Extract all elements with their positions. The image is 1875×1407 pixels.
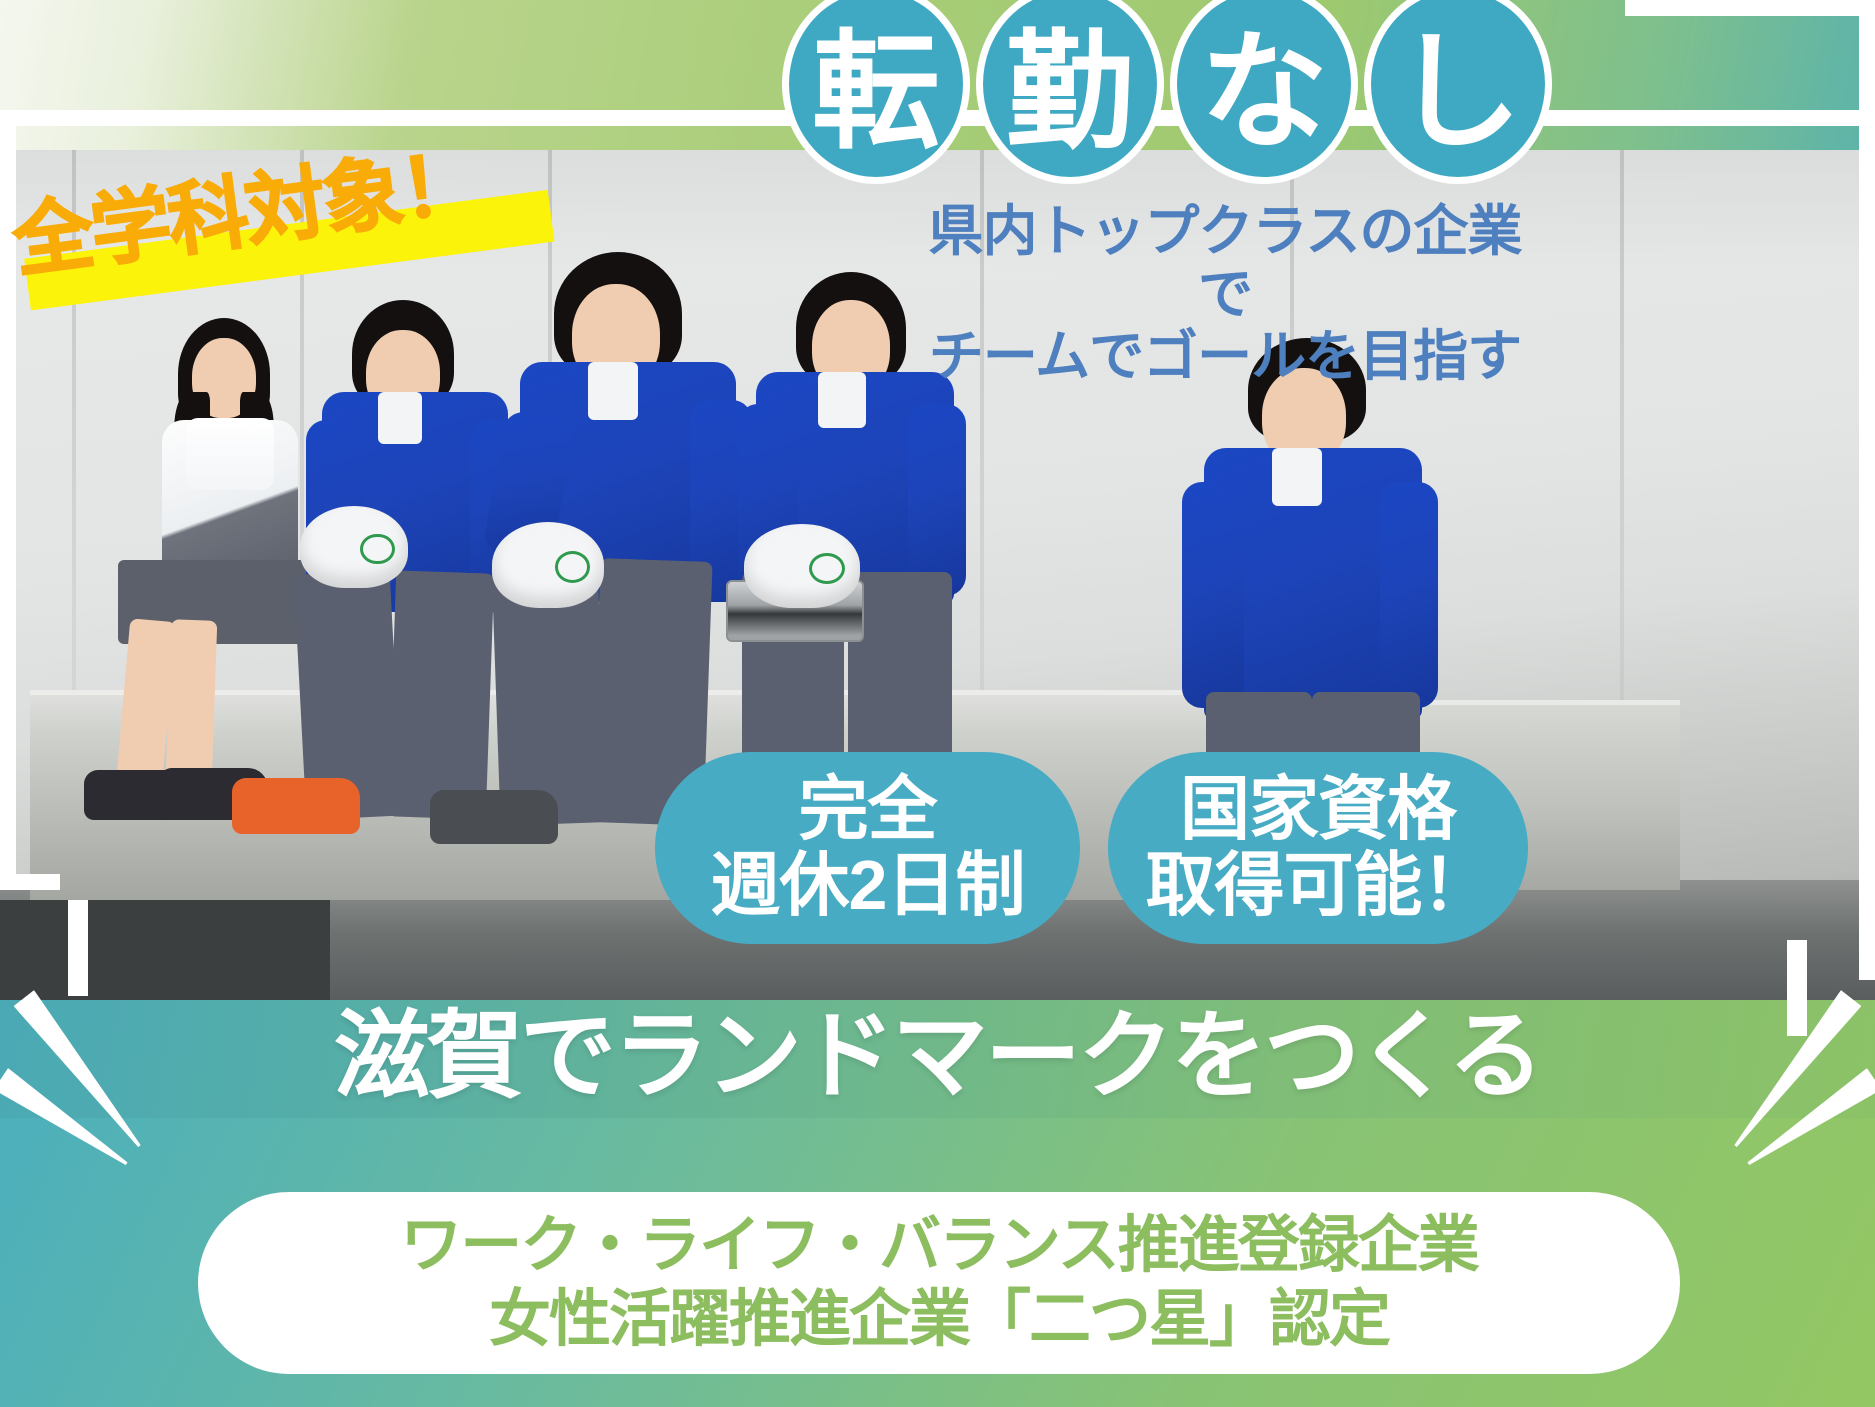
subtitle-line-1: 県内トップクラスの企業で (905, 200, 1545, 325)
circle-badge-char-2: 勤 (976, 0, 1164, 184)
frame-top-right (1625, 0, 1875, 16)
recruitment-poster: 転 勤 な し 県内トップクラスの企業で チームでゴールを目指す 全学科対象！ … (0, 0, 1875, 1407)
certification-line-2: 女性活躍推進企業「二つ星」認定 (489, 1283, 1389, 1357)
circle-badge-char-1: 転 (782, 0, 970, 184)
wall-seam (1620, 150, 1624, 710)
headline-thin: をつくる (1171, 1003, 1541, 1110)
badge-national-qualification: 国家資格 取得可能！ (1108, 752, 1528, 944)
headline-bold: 滋賀でランドマーク (334, 1003, 1171, 1110)
certification-pill: ワーク・ライフ・バランス推進登録企業 女性活躍推進企業「二つ星」認定 (198, 1192, 1680, 1374)
subtitle-block: 県内トップクラスの企業で チームでゴールを目指す (905, 200, 1545, 388)
frame-bottom-left (0, 874, 60, 890)
badge-week-line-1: 完全 (799, 772, 937, 848)
headline-text: 滋賀でランドマークをつくる (0, 1002, 1875, 1112)
certification-line-1: ワーク・ライフ・バランス推進登録企業 (400, 1209, 1478, 1283)
subtitle-line-2: チームでゴールを目指す (905, 325, 1545, 388)
badge-full-two-day-weekend: 完全 週休2日制 (655, 752, 1080, 944)
badge-week-line-2: 週休2日制 (711, 848, 1025, 924)
circle-badge-char-3: な (1170, 0, 1358, 184)
badge-cert-line-2: 取得可能！ (1146, 848, 1491, 924)
frame-right (1859, 0, 1875, 980)
decorative-tick-left (68, 900, 88, 996)
circle-badge-char-4: し (1364, 0, 1552, 184)
badge-cert-line-1: 国家資格 (1180, 772, 1456, 848)
tenkin-nashi-badge-group: 転 勤 な し (782, 0, 1552, 184)
photo-asphalt (0, 900, 330, 1012)
